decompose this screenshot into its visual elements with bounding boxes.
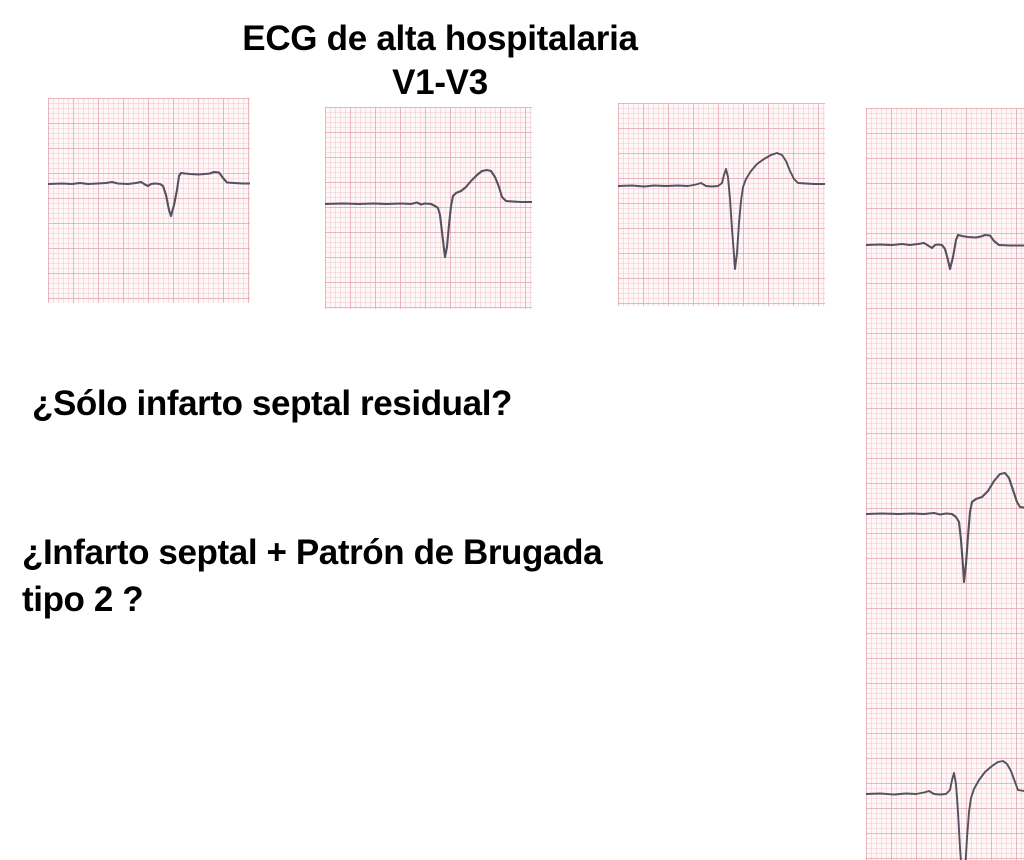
question-brugada-pattern: ¿Infarto septal + Patrón de Brugada tipo… [22,529,782,623]
ecg-waveform-v3 [618,103,825,306]
question-brugada-line-2: tipo 2 ? [22,576,782,623]
question-brugada-line-1: ¿Infarto septal + Patrón de Brugada [22,529,782,576]
ecg-waveform-v1 [48,98,250,303]
ecg-waveform-v2 [325,107,532,309]
slide-title-line-1: ECG de alta hospitalaria [0,17,880,61]
ecg-waveform-column-right [866,108,1024,860]
ecg-strip-v2 [325,107,532,309]
ecg-strip-v1 [48,98,250,303]
question-septal-infarct: ¿Sólo infarto septal residual? [32,380,512,427]
ecg-strip-column-right [866,108,1024,860]
ecg-strip-v3 [618,103,825,306]
